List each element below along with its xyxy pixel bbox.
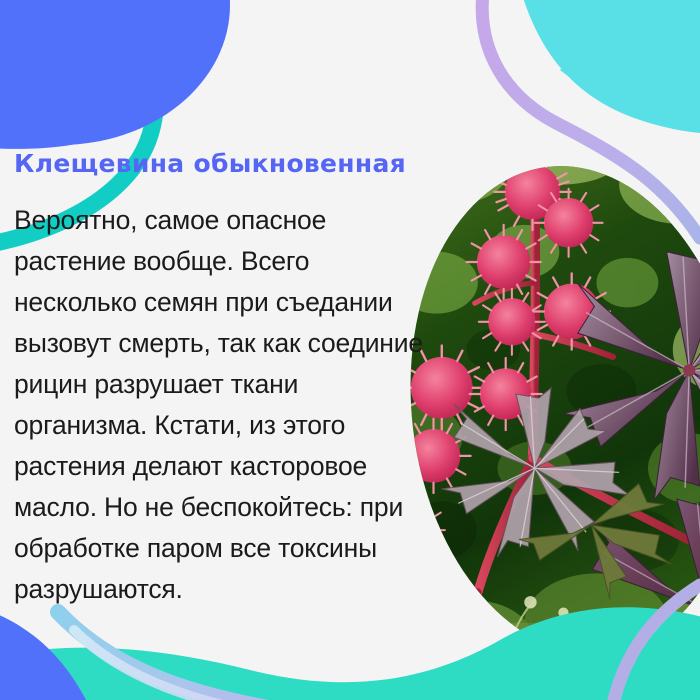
text-content: Клещевина обыкновенная Вероятно, самое о… xyxy=(14,150,434,610)
body-paragraph: Вероятно, самое опасное растение вообще.… xyxy=(14,200,434,610)
top-right-turquoise-blob xyxy=(513,0,700,135)
top-right-turquoise-blob-tail xyxy=(560,38,700,132)
bottom-left-blue-blob xyxy=(0,608,96,700)
page-title: Клещевина обыкновенная xyxy=(14,150,434,178)
top-left-blue-blob xyxy=(0,0,226,149)
bottom-left-blue-blob-body xyxy=(0,600,104,700)
top-left-blue-blob-lobe xyxy=(0,0,230,145)
bottom-left-pale-ribbon xyxy=(74,630,400,700)
bottom-left-light-ribbon xyxy=(58,612,380,700)
poster-canvas: Клещевина обыкновенная Вероятно, самое о… xyxy=(0,0,700,700)
